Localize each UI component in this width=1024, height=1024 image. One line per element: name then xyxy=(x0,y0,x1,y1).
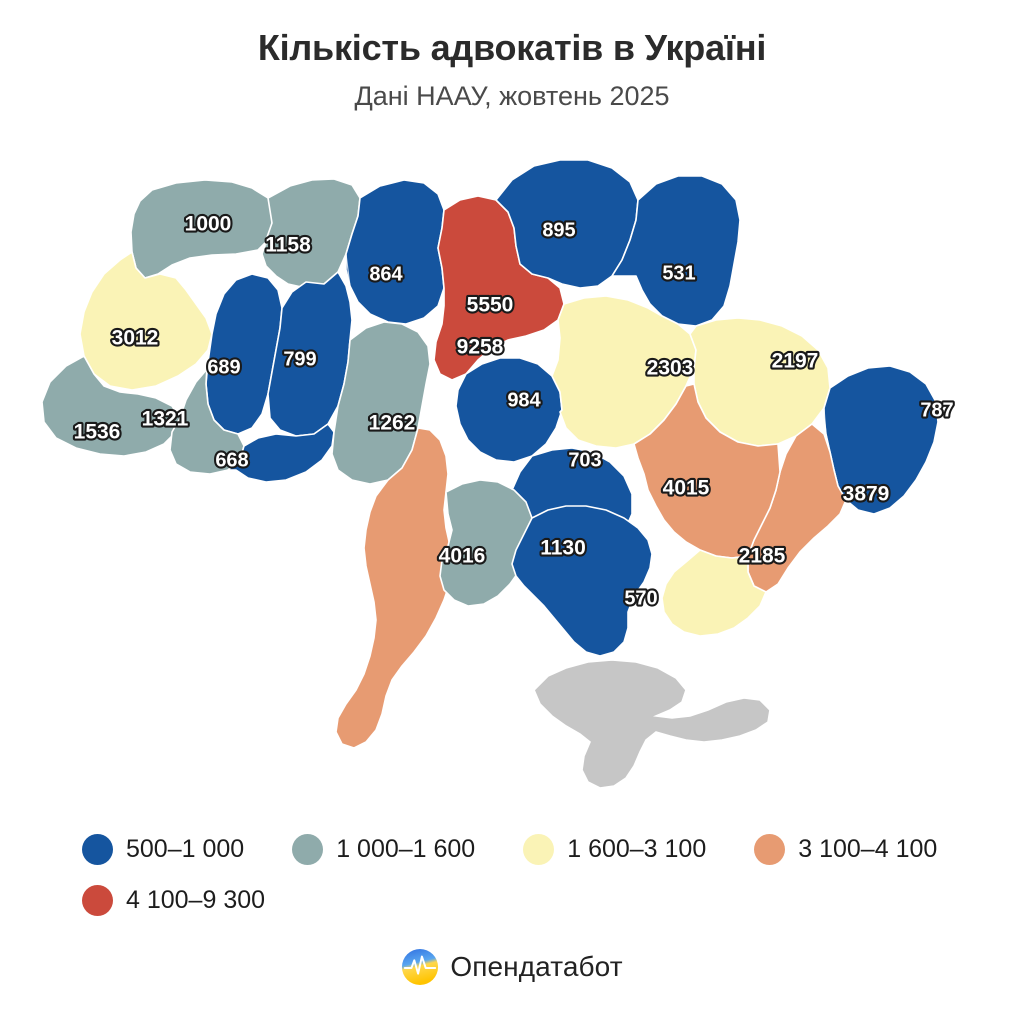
legend-label-3: 1 600–3 100 xyxy=(567,835,706,864)
legend-label-4: 3 100–4 100 xyxy=(798,835,937,864)
map-region-kherson[interactable] xyxy=(512,506,652,656)
map-label-rivne: 1158 xyxy=(265,234,311,257)
legend-item-5: 4 100–9 300 xyxy=(82,885,265,916)
map-label-cherkasy: 984 xyxy=(507,389,541,411)
legend-label-2: 1 000–1 600 xyxy=(336,835,475,864)
legend-swatch-2 xyxy=(292,834,323,865)
page-title: Кількість адвокатів в Україні xyxy=(0,0,1024,68)
map-svg: 1000115886430126897991536132166812625550… xyxy=(0,128,1024,828)
infographic-page: Кількість адвокатів в Україні Дані НААУ,… xyxy=(0,0,1024,1024)
map-label-kyiv_city: 5550 xyxy=(467,294,514,317)
map-label-kharkiv: 2197 xyxy=(772,350,819,373)
map-label-ternopil: 689 xyxy=(207,356,240,378)
legend-label-5: 4 100–9 300 xyxy=(126,886,265,915)
map-label-kyiv_obl: 9258 xyxy=(457,336,504,359)
legend-item-2: 1 000–1 600 xyxy=(292,834,475,865)
map-label-khmeln: 799 xyxy=(283,348,316,370)
map-region-mykolaiv[interactable] xyxy=(440,480,532,606)
page-subtitle: Дані НААУ, жовтень 2025 xyxy=(0,68,1024,112)
legend-swatch-5 xyxy=(82,885,113,916)
legend-item-3: 1 600–3 100 xyxy=(523,834,706,865)
map-label-chernivtsi: 668 xyxy=(215,449,248,471)
map-label-mykolaiv: 1130 xyxy=(540,537,586,560)
legend: 500–1 0001 000–1 6001 600–3 1003 100–4 1… xyxy=(0,834,1024,916)
map-label-donetsk: 3879 xyxy=(843,483,890,506)
map-label-odesa: 4016 xyxy=(439,545,486,568)
footer-brand: Опендатабот xyxy=(0,948,1024,986)
map-label-dnipro: 4015 xyxy=(663,477,710,500)
map-label-poltava: 2303 xyxy=(647,357,694,380)
legend-label-1: 500–1 000 xyxy=(126,835,244,864)
map-label-luhansk: 787 xyxy=(920,399,953,421)
map-label-kherson: 570 xyxy=(624,587,657,609)
legend-swatch-1 xyxy=(82,834,113,865)
map-regions-group xyxy=(42,160,938,788)
map-label-kirovohrad: 703 xyxy=(568,449,601,471)
legend-items-row: 500–1 0001 000–1 6001 600–3 1003 100–4 1… xyxy=(0,834,1024,916)
map-label-chernihiv: 895 xyxy=(542,219,575,241)
ukraine-choropleth-map: 1000115886430126897991536132166812625550… xyxy=(0,128,1024,828)
map-label-vinnytsia: 1262 xyxy=(369,412,416,435)
map-region-crimea[interactable] xyxy=(534,660,770,788)
opendatabot-pulse-icon xyxy=(401,948,439,986)
map-label-zaporizh: 2185 xyxy=(739,545,786,568)
legend-item-1: 500–1 000 xyxy=(82,834,244,865)
brand-name: Опендатабот xyxy=(450,951,622,983)
map-label-ivfrank: 1321 xyxy=(142,408,189,431)
map-label-lviv: 3012 xyxy=(112,327,159,350)
legend-swatch-3 xyxy=(523,834,554,865)
map-label-sumy: 531 xyxy=(662,262,695,284)
map-label-volyn: 1000 xyxy=(185,213,232,236)
header: Кількість адвокатів в Україні Дані НААУ,… xyxy=(0,0,1024,111)
map-region-zhytomyr[interactable] xyxy=(346,180,444,324)
legend-item-4: 3 100–4 100 xyxy=(754,834,937,865)
map-label-zakarp: 1536 xyxy=(74,421,121,444)
legend-swatch-4 xyxy=(754,834,785,865)
map-label-zhytomyr: 864 xyxy=(369,263,403,285)
